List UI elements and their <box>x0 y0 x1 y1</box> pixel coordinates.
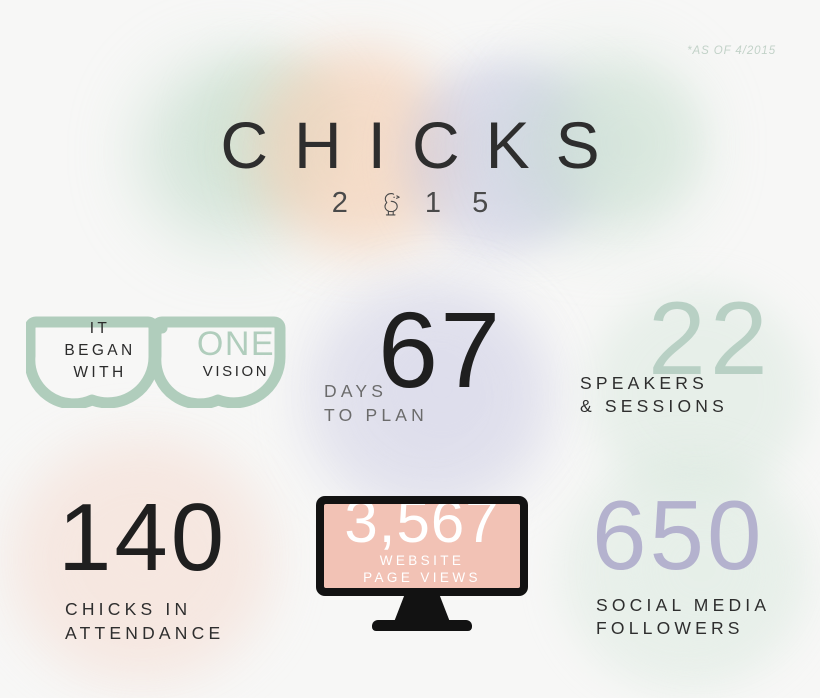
tagline-line-3: WITH <box>40 362 160 384</box>
chick-icon <box>379 189 403 219</box>
stat-social-caption: SOCIAL MEDIA FOLLOWERS <box>578 594 820 641</box>
stat-attendance-caption: CHICKS IN ATTENDANCE <box>30 598 300 645</box>
year-digit-2: 2 <box>332 189 357 218</box>
infographic-canvas: *AS OF 4/2015 CHICKS 2 1 5 <box>0 0 820 698</box>
stat-days-caption-line-1: DAYS <box>324 380 428 404</box>
stat-attendance-caption-line-1: CHICKS IN <box>65 598 300 621</box>
tagline-word-vision: VISION <box>178 364 294 379</box>
stat-social-value: 650 <box>578 490 820 580</box>
monitor-stand-neck <box>394 596 450 622</box>
title-year: 2 1 5 <box>0 188 820 218</box>
stat-speakers-caption-line-1: SPEAKERS <box>580 372 728 395</box>
stat-speakers-sessions: 22 SPEAKERS & SESSIONS <box>570 292 820 440</box>
stat-page-views-caption-line-1: WEBSITE <box>324 552 520 569</box>
stat-attendance: 140 CHICKS IN ATTENDANCE <box>30 494 300 645</box>
stat-attendance-value: 140 <box>30 494 300 582</box>
stat-days-caption: DAYS TO PLAN <box>324 380 428 428</box>
stat-social-caption-line-2: FOLLOWERS <box>596 617 820 640</box>
stat-social-followers: 650 SOCIAL MEDIA FOLLOWERS <box>578 490 820 641</box>
stat-attendance-caption-line-2: ATTENDANCE <box>65 622 300 645</box>
glasses-right-lens-text: ONE VISION <box>178 327 294 379</box>
monitor-stand-base <box>372 620 472 631</box>
stat-speakers-caption-line-2: & SESSIONS <box>580 395 728 418</box>
stat-page-views-caption-line-2: PAGE VIEWS <box>324 569 520 586</box>
tagline-line-2: BEGAN <box>40 340 160 362</box>
monitor-screen: 3,567 WEBSITE PAGE VIEWS <box>324 504 520 588</box>
as-of-note: *AS OF 4/2015 <box>687 45 776 57</box>
stat-days-caption-line-2: TO PLAN <box>324 404 428 428</box>
glasses-left-lens-text: IT BEGAN WITH <box>40 318 160 384</box>
stat-speakers-caption: SPEAKERS & SESSIONS <box>580 372 728 419</box>
page-title: CHICKS <box>0 112 820 178</box>
tagline-word-one: ONE <box>178 327 294 361</box>
stat-social-caption-line-1: SOCIAL MEDIA <box>596 594 820 617</box>
stat-days-to-plan: 67 DAYS TO PLAN <box>300 300 540 440</box>
year-digit-1: 1 <box>425 189 450 218</box>
monitor-bezel: 3,567 WEBSITE PAGE VIEWS <box>316 496 528 596</box>
stat-page-views-caption: WEBSITE PAGE VIEWS <box>324 552 520 587</box>
year-digit-5: 5 <box>472 189 497 218</box>
stat-page-views-monitor: 3,567 WEBSITE PAGE VIEWS <box>316 496 536 638</box>
glasses-graphic: IT BEGAN WITH ONE VISION <box>26 300 290 408</box>
tagline-line-1: IT <box>40 318 160 340</box>
title-block: CHICKS 2 1 5 <box>0 112 820 218</box>
stat-page-views-value: 3,567 <box>324 504 520 552</box>
